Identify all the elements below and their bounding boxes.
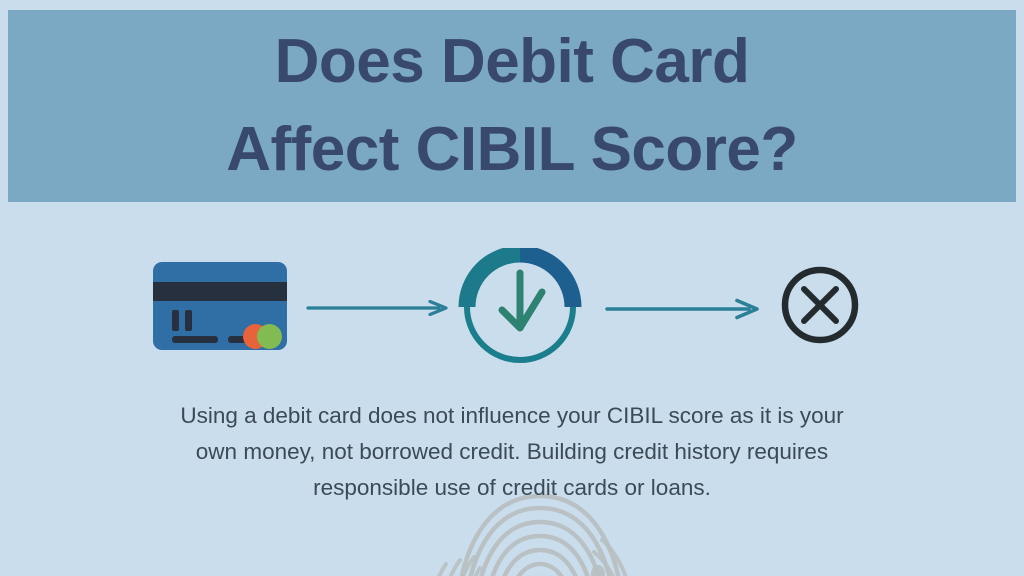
x-circle-icon [780, 265, 860, 345]
card-bar [185, 310, 192, 331]
icon-flow-row [0, 248, 1024, 368]
arrow-right-icon [306, 298, 454, 318]
body-line-1: Using a debit card does not influence yo… [122, 398, 902, 434]
body-line-2: own money, not borrowed credit. Building… [122, 434, 902, 470]
card-number-dash-long [172, 336, 218, 343]
title-line-2: Affect CIBIL Score? [226, 106, 798, 194]
page-title: Does Debit Card Affect CIBIL Score? [8, 10, 1016, 202]
gauge-score-icon [450, 248, 590, 366]
header-band: Does Debit Card Affect CIBIL Score? [8, 10, 1016, 202]
card-bar [172, 310, 179, 331]
card-magnetic-stripe [153, 282, 287, 301]
infographic-canvas: Does Debit Card Affect CIBIL Score? [0, 0, 1024, 576]
title-line-1: Does Debit Card [275, 18, 750, 106]
card-logo-circle-green [257, 324, 282, 349]
body-line-3: responsible use of credit cards or loans… [122, 470, 902, 506]
body-description: Using a debit card does not influence yo… [122, 398, 902, 506]
arrow-right-icon [605, 298, 765, 320]
credit-card-icon [153, 262, 287, 350]
